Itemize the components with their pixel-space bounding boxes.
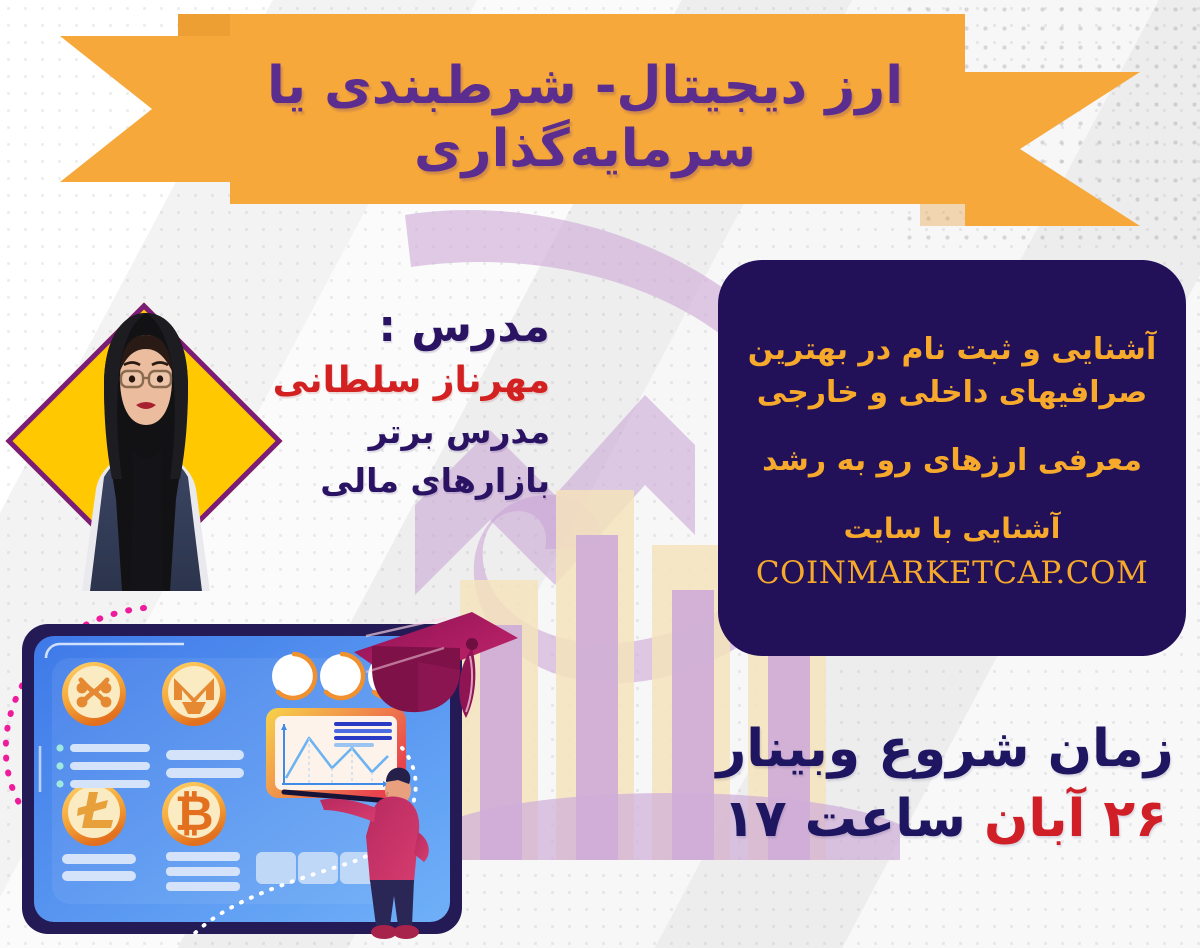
chart-whiteboard (266, 708, 406, 798)
coin-monero (162, 662, 226, 726)
time-heading: زمان شروع وبینار (700, 718, 1190, 780)
title-ribbon: ارز دیجیتال- شرطبندی یا سرمایه‌گذاری (60, 14, 1140, 226)
coin-bitcoin: ₿ (162, 782, 226, 846)
webinar-hour: ساعت ۱۷ (723, 789, 966, 849)
title-line-1: ارز دیجیتال- شرطبندی یا (267, 56, 903, 117)
poster-title: ارز دیجیتال- شرطبندی یا سرمایه‌گذاری (60, 14, 1140, 226)
instructor-info: مدرس : مهرناز سلطانی مدرس برتر بازارهای … (250, 300, 550, 505)
instructor-name: مهرناز سلطانی (250, 354, 550, 408)
title-line-2: سرمایه‌گذاری (414, 119, 756, 180)
instructor-label: مدرس : (250, 300, 550, 354)
instructor-subtitle-line2: بازارهای مالی (250, 457, 550, 506)
instructor-avatar (60, 299, 232, 591)
webinar-date: ۲۶ آبان (984, 789, 1167, 849)
info-box: آشنایی و ثبت نام در بهترین صرافیهای داخل… (718, 260, 1186, 656)
coin-xrp (62, 662, 126, 726)
tablet-illustration: ₿ (0, 596, 524, 948)
info-line-4: آشنایی با سایت (742, 509, 1162, 549)
coinmarketcap-url[interactable]: COINMARKETCAP.COM (756, 555, 1148, 591)
info-line-2: صرافیهای داخلی و خارجی (742, 372, 1162, 415)
info-line-3: معرفی ارزهای رو به رشد (742, 440, 1162, 483)
time-detail: ۲۶ آبان ساعت ۱۷ (700, 786, 1190, 854)
svg-text:₿: ₿ (174, 786, 213, 842)
coin-litecoin (62, 782, 126, 846)
instructor-subtitle-line1: مدرس برتر (250, 408, 550, 457)
webinar-time-block: زمان شروع وبینار ۲۶ آبان ساعت ۱۷ (700, 718, 1190, 854)
instructor-photo-block (8, 295, 278, 595)
info-line-1: آشنایی و ثبت نام در بهترین (742, 329, 1162, 372)
poster-canvas: ارز دیجیتال- شرطبندی یا سرمایه‌گذاری (0, 0, 1200, 948)
